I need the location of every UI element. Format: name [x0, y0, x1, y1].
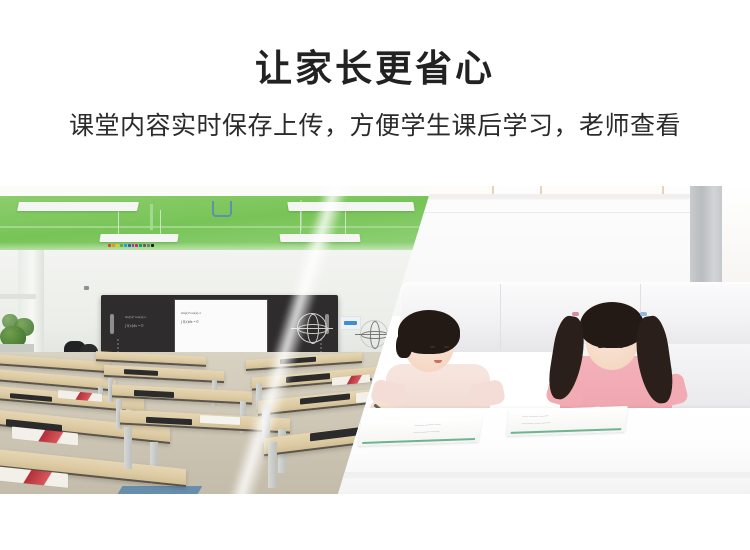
ceiling-light-panel — [287, 202, 414, 211]
open-notebook: —— ——— ——— ———— —— ——— — [506, 406, 627, 436]
open-notebook: ——— ——— —— —— ——— ——— — [358, 416, 482, 446]
heading-block: 让家长更省心 课堂内容实时保存上传，方便学生课后学习，老师查看 — [0, 0, 750, 141]
book-text-line: ———— —— ——— — [521, 421, 550, 426]
ceiling-pipe — [212, 201, 232, 217]
desk-leg — [124, 427, 132, 469]
promo-page: 让家长更省心 课堂内容实时保存上传，方便学生课后学习，老师查看 — [0, 0, 750, 550]
lamp-wire — [300, 210, 301, 235]
ceiling-light-panel — [280, 234, 361, 242]
book-text-line: —— ——— ——— — [522, 414, 548, 419]
floor-mat — [118, 486, 203, 494]
cushion-seam — [500, 284, 501, 350]
screen-note-line: sin(x)+cos(x)=r — [181, 311, 201, 315]
camera-icon — [84, 286, 89, 290]
hair-tie — [572, 312, 579, 316]
board-chalk-line: ∫ f(x)dx = 0 — [125, 324, 143, 328]
table-edge — [300, 472, 750, 478]
board-color-palette[interactable] — [108, 244, 154, 247]
bottom-whitespace — [0, 494, 750, 550]
book-text-line: ——— ——— —— — [415, 422, 441, 427]
photo-band: sin(x)+cos(x)=r ∫ f(x)dx = 0 sin(x)+cos(… — [0, 186, 750, 494]
page-title: 让家长更省心 — [0, 0, 750, 91]
wall-shelf — [0, 294, 36, 299]
ceiling-light-panel — [99, 234, 178, 242]
board-chalk-line: sin(x)+cos(x)=r — [125, 315, 146, 319]
board-rail — [110, 314, 114, 334]
board-display-screen[interactable]: sin(x)+cos(x)=r ∫ f(x)dx = 0 — [174, 299, 268, 359]
sphere-diagram — [297, 313, 327, 343]
girl-eye — [598, 346, 603, 348]
girl-eye — [618, 346, 623, 348]
boy-hair-side — [396, 332, 412, 358]
lamp-wire — [160, 210, 161, 235]
ceiling-beam — [150, 204, 153, 230]
ceiling-beam — [0, 226, 470, 228]
book-text-line: —— ——— ——— — [414, 429, 440, 434]
ceiling-light-panel — [17, 202, 139, 211]
boy-eye — [430, 346, 435, 348]
screen-note-line: ∫ f(x)dx = 0 — [181, 320, 198, 324]
page-subtitle: 课堂内容实时保存上传，方便学生课后学习，老师查看 — [0, 91, 750, 141]
lamp-wire — [118, 210, 119, 235]
girl-hair — [580, 302, 644, 348]
boy-eye — [444, 346, 449, 348]
wall-sign — [340, 316, 361, 330]
lamp-wire — [345, 210, 346, 235]
sphere-diagram — [360, 320, 388, 348]
desk-leg — [268, 442, 277, 488]
hair-tie — [640, 312, 647, 316]
